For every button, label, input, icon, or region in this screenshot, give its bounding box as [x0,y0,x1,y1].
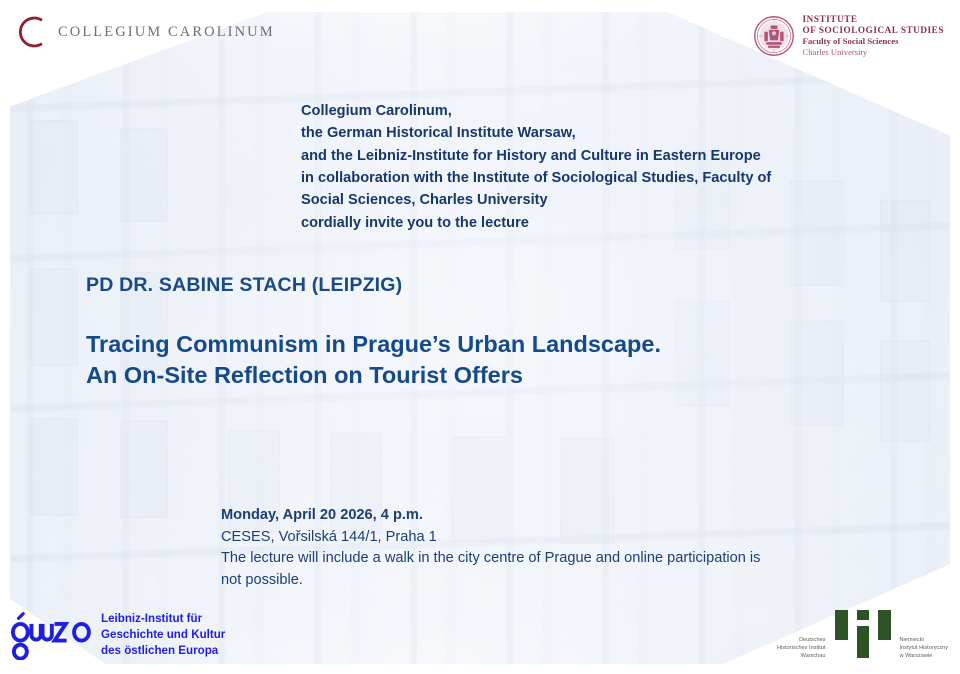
event-note-line-2: not possible. [221,570,831,592]
intro-line-3: and the Leibniz-Institute for History an… [301,145,821,167]
iss-line-4: Charles University [803,47,944,57]
dhi-german-line-3: Warschau [777,652,826,660]
intro-line-4: in collaboration with the Institute of S… [301,167,821,189]
collegium-carolinum-logo: COLLEGIUM CAROLINUM [14,14,275,50]
lecture-poster: COLLEGIUM CAROLINUM [0,0,960,674]
iss-line-2: OF SOCIOLOGICAL STUDIES [803,25,944,36]
intro-line-1: Collegium Carolinum, [301,100,821,122]
gwzo-logo-text: Leibniz-Institut für Geschichte und Kult… [101,611,225,658]
iss-line-3: Faculty of Social Sciences [803,36,944,47]
iss-charles-university-logo: INSTITUTE OF SOCIOLOGICAL STUDIES Facult… [753,14,944,58]
dhi-german-line-1: Deutsches [777,636,826,644]
dhi-german-line-2: Historisches Institut [777,644,826,652]
iss-line-1: INSTITUTE [803,14,944,25]
dhi-german-caption: Deutsches Historisches Institut Warschau [777,636,826,662]
dhi-warschau-bars-icon [831,606,895,662]
collegium-carolinum-arc-icon [14,14,50,50]
intro-line-5: Social Sciences, Charles University [301,189,821,211]
dhi-polish-line-1: Niemiecki [900,636,949,644]
lecture-title-line-2: An On-Site Reflection on Tourist Offers [86,360,661,391]
dhi-warschau-logo: Deutsches Historisches Institut Warschau… [777,606,948,662]
iss-logo-text: INSTITUTE OF SOCIOLOGICAL STUDIES Facult… [803,14,944,58]
event-venue: CESES, Vořsilská 144/1, Praha 1 [221,527,831,549]
intro-line-6: cordially invite you to the lecture [301,212,821,234]
gwzo-line-2: Geschichte und Kultur [101,627,225,643]
charles-university-seal-icon [753,15,795,57]
event-datetime: Monday, April 20 2026, 4 p.m. [221,505,831,527]
dhi-polish-caption: Niemiecki Instytut Historyczny w Warszaw… [900,636,949,662]
dhi-polish-line-3: w Warszawie [900,652,949,660]
dhi-polish-line-2: Instytut Historyczny [900,644,949,652]
gwzo-wordmark-icon [8,610,92,660]
collegium-carolinum-wordmark: COLLEGIUM CAROLINUM [58,24,275,41]
speaker-name: PD DR. SABINE STACH (LEIPZIG) [86,274,402,297]
gwzo-logo: Leibniz-Institut für Geschichte und Kult… [8,610,225,660]
gwzo-line-3: des östlichen Europa [101,643,225,659]
lecture-title-line-1: Tracing Communism in Prague’s Urban Land… [86,329,661,360]
intro-line-2: the German Historical Institute Warsaw, [301,122,821,144]
lecture-title: Tracing Communism in Prague’s Urban Land… [86,329,661,392]
invitation-intro: Collegium Carolinum, the German Historic… [301,100,821,234]
event-note-line-1: The lecture will include a walk in the c… [221,548,831,570]
gwzo-line-1: Leibniz-Institut für [101,611,225,627]
event-details: Monday, April 20 2026, 4 p.m. CESES, Voř… [221,505,831,591]
